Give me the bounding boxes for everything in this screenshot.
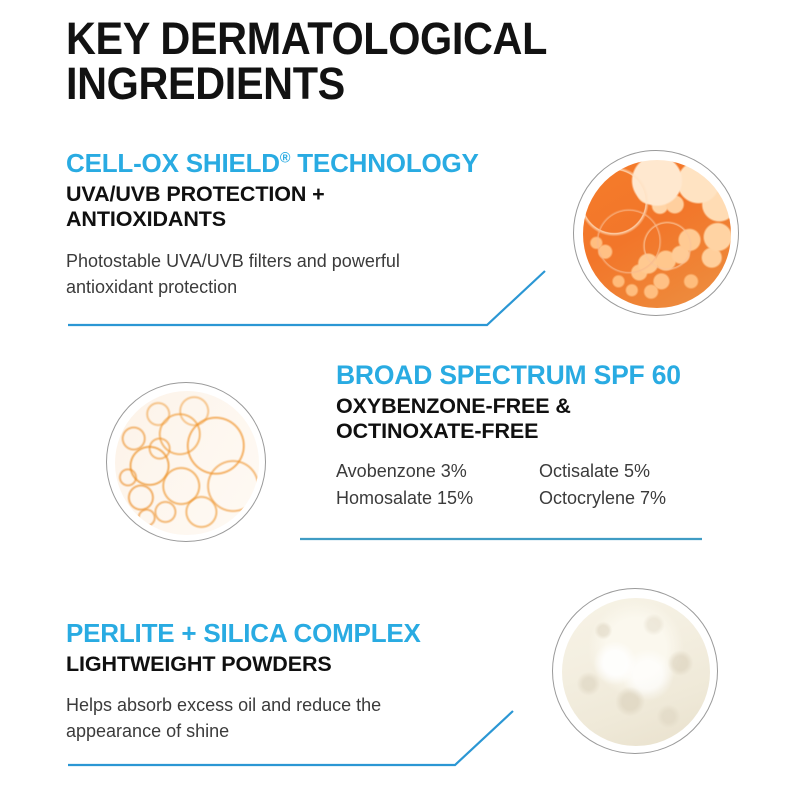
white-silica-powder-photo [552, 588, 718, 754]
cellular-structure-photo [106, 382, 266, 542]
white-silica-powder-image [562, 598, 710, 746]
orange-oil-bubbles-photo [573, 150, 739, 316]
section-broad-spectrum-spf: BROAD SPECTRUM SPF 60 OXYBENZONE-FREE & … [336, 360, 766, 512]
section-perlite-silica-complex: PERLITE + SILICA COMPLEX LIGHTWEIGHT POW… [66, 618, 536, 744]
section-subheading-perlite-silica-complex: LIGHTWEIGHT POWDERS [66, 652, 536, 677]
filter-item-octisalate: Octisalate 5% [539, 458, 766, 485]
filter-item-avobenzone: Avobenzone 3% [336, 458, 539, 485]
filter-item-octocrylene: Octocrylene 7% [539, 485, 766, 512]
section-heading-suffix: TECHNOLOGY [290, 148, 478, 178]
cellular-structure-image [115, 391, 259, 535]
page-title: KEY DERMATOLOGICAL INGREDIENTS [66, 16, 710, 106]
section-subheading-broad-spectrum-spf: OXYBENZONE-FREE & OCTINOXATE-FREE [336, 394, 766, 444]
section-subheading-cell-ox-shield: UVA/UVB PROTECTION + ANTIOXIDANTS [66, 182, 586, 232]
section-heading-perlite-silica-complex: PERLITE + SILICA COMPLEX [66, 618, 536, 648]
sunscreen-filters-list: Avobenzone 3% Octisalate 5% Homosalate 1… [336, 458, 766, 512]
section-body-cell-ox-shield: Photostable UVA/UVB filters and powerful… [66, 248, 586, 300]
registered-trademark-icon: ® [280, 150, 290, 166]
section-heading-cell-ox-shield: CELL-OX SHIELD® TECHNOLOGY [66, 148, 586, 178]
section-heading-broad-spectrum-spf: BROAD SPECTRUM SPF 60 [336, 360, 766, 390]
section-cell-ox-shield: CELL-OX SHIELD® TECHNOLOGY UVA/UVB PROTE… [66, 148, 586, 300]
section-body-perlite-silica-complex: Helps absorb excess oil and reduce the a… [66, 692, 536, 744]
ingredients-infographic: KEY DERMATOLOGICAL INGREDIENTS CELL-OX S… [0, 0, 800, 800]
filter-item-homosalate: Homosalate 15% [336, 485, 539, 512]
orange-oil-bubbles-image [583, 160, 731, 308]
section-heading-text: CELL-OX SHIELD [66, 148, 280, 178]
